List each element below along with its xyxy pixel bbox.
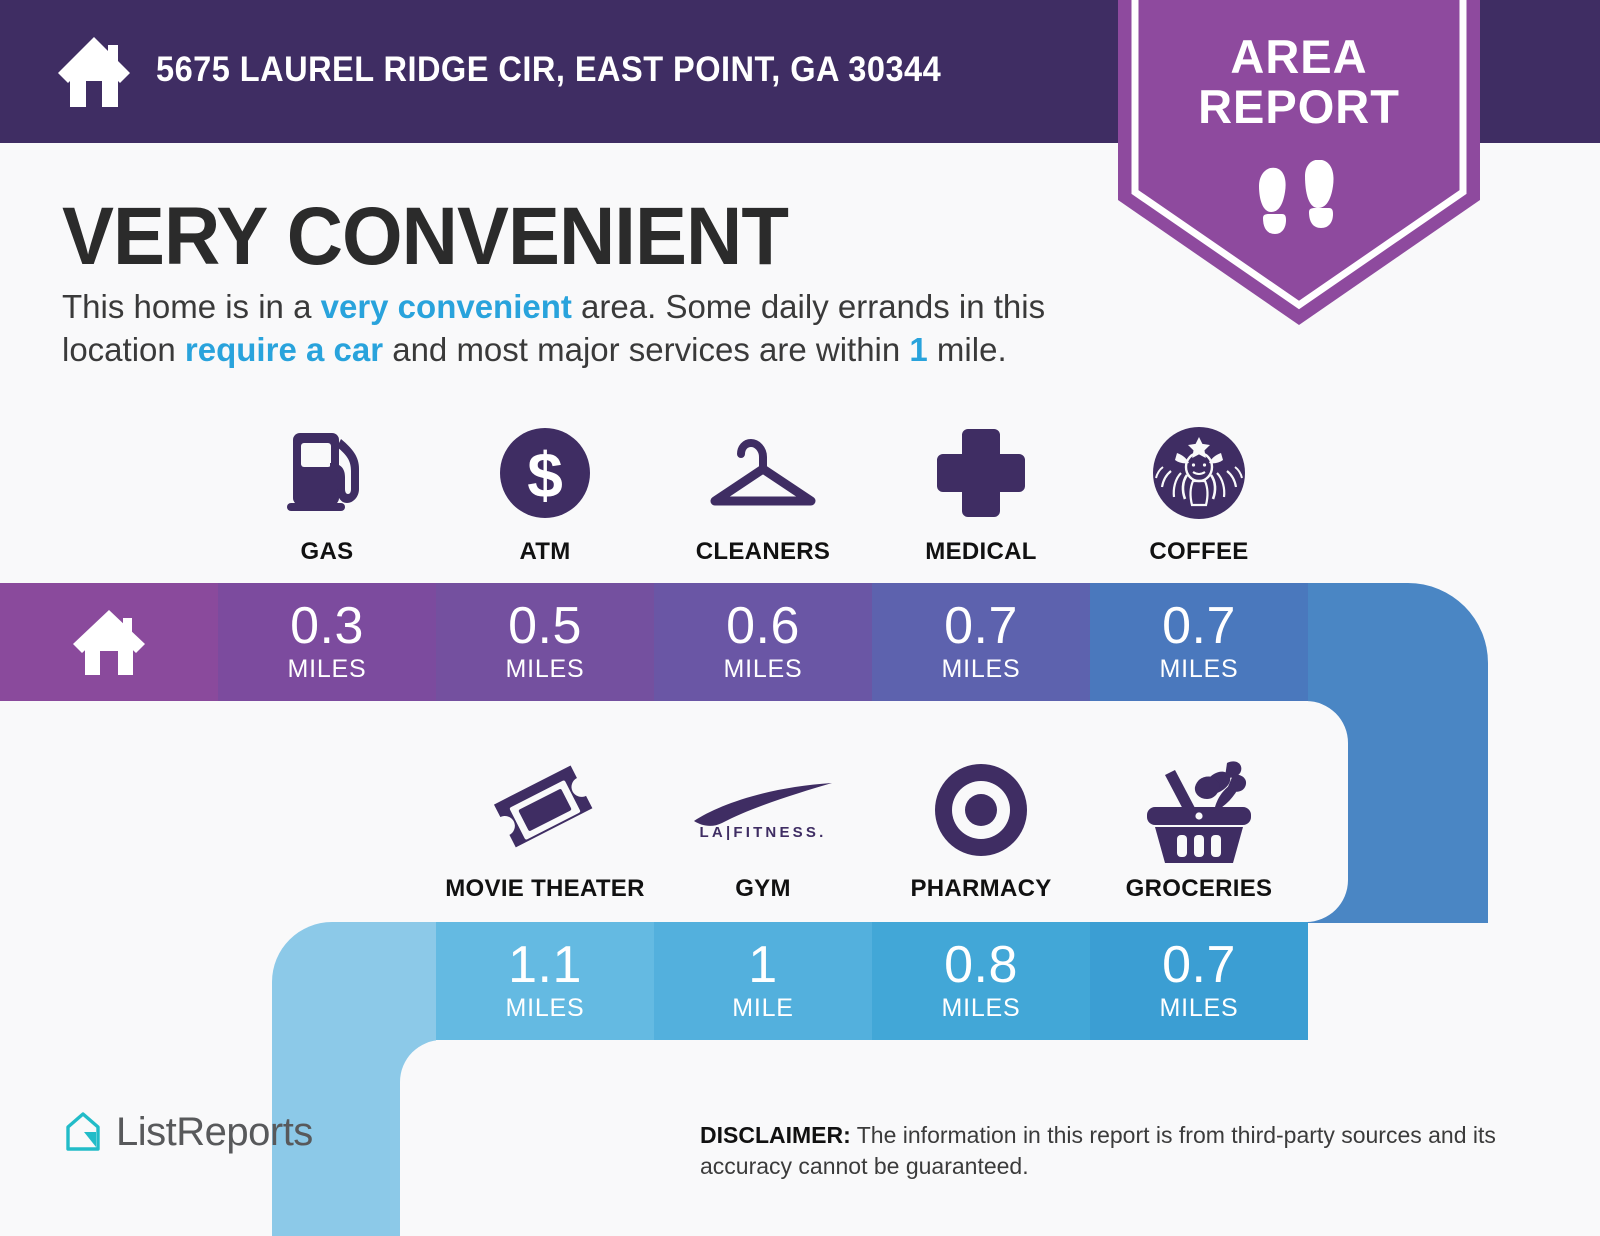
icon-column-groceries: GROCERIES (1090, 755, 1308, 903)
row2-cell-pharmacy: 0.8 MILES (872, 922, 1090, 1040)
icon-column-pharmacy: PHARMACY (872, 755, 1090, 903)
icon-label: GROCERIES (1126, 875, 1273, 903)
dollar-circle-icon: $ (497, 418, 593, 528)
distance-value: 0.8 (944, 939, 1018, 991)
sub-highlight-2: require a car (185, 331, 383, 368)
row1-cell-atm: 0.5 MILES (436, 583, 654, 701)
badge-title: AREA REPORT (1118, 32, 1480, 132)
distance-value: 0.7 (1162, 600, 1236, 652)
icon-column-gym: LA|FITNESS. GYM (654, 755, 872, 903)
summary-text: This home is in a very convenient area. … (62, 285, 1112, 371)
row1-cell-medical: 0.7 MILES (872, 583, 1090, 701)
svg-text:TM: TM (1233, 504, 1243, 511)
sub-suffix: mile. (928, 331, 1007, 368)
property-address: 5675 LAUREL RIDGE CIR, EAST POINT, GA 30… (156, 50, 941, 90)
icon-column-coffee: TM COFFEE (1090, 418, 1308, 566)
row1-cell-coffee: 0.7 MILES (1090, 583, 1308, 701)
area-report-badge: AREA REPORT (1118, 0, 1480, 325)
icon-label: GAS (301, 538, 354, 566)
row2-cell-groceries: 0.7 MILES (1090, 922, 1308, 1040)
badge-line-1: AREA (1230, 30, 1367, 83)
listreports-house-icon (62, 1111, 104, 1155)
movie-ticket-icon (490, 755, 600, 865)
distance-unit: MILES (287, 654, 366, 684)
distance-unit: MILES (941, 654, 1020, 684)
area-report-infographic: 5675 LAUREL RIDGE CIR, EAST POINT, GA 30… (0, 0, 1600, 1236)
medical-cross-icon (933, 418, 1029, 528)
la-fitness-icon: LA|FITNESS. (688, 755, 838, 865)
sub-highlight-3: 1 (909, 331, 927, 368)
icon-column-cleaners: CLEANERS (654, 418, 872, 566)
icon-column-movie-theater: MOVIE THEATER (436, 755, 654, 903)
gas-pump-icon (277, 418, 377, 528)
distance-unit: MILES (941, 993, 1020, 1023)
distance-value: 0.3 (290, 600, 364, 652)
home-icon (71, 607, 147, 677)
distance-value: 0.7 (1162, 939, 1236, 991)
row1-cell-cleaners: 0.6 MILES (654, 583, 872, 701)
icon-column-atm: $ ATM (436, 418, 654, 566)
row2-cell-gym: 1 MILE (654, 922, 872, 1040)
distance-value: 1.1 (508, 939, 582, 991)
icon-label: CLEANERS (696, 538, 830, 566)
home-icon (56, 33, 132, 109)
distance-unit: MILES (1159, 654, 1238, 684)
sub-mid-2: and most major services are within (383, 331, 909, 368)
disclaimer-label: DISCLAIMER: (700, 1122, 851, 1148)
icon-label: MEDICAL (925, 538, 1036, 566)
starbucks-icon: TM (1149, 418, 1249, 528)
icon-label: ATM (519, 538, 570, 566)
distance-value: 0.6 (726, 600, 800, 652)
distance-unit: MILE (732, 993, 794, 1023)
icon-label: COFFEE (1149, 538, 1248, 566)
row1-home-cell (0, 583, 218, 701)
badge-line-2: REPORT (1198, 80, 1400, 133)
sub-prefix: This home is in a (62, 288, 321, 325)
listreports-logo: ListReports (62, 1110, 313, 1155)
svg-text:LA|FITNESS.: LA|FITNESS. (700, 824, 827, 841)
distance-unit: MILES (1159, 993, 1238, 1023)
distance-value: 0.7 (944, 600, 1018, 652)
distance-unit: MILES (723, 654, 802, 684)
distance-unit: MILES (505, 993, 584, 1023)
target-bullseye-icon (931, 755, 1031, 865)
icon-label: MOVIE THEATER (445, 875, 644, 903)
hanger-icon (705, 418, 821, 528)
icon-column-medical: MEDICAL (872, 418, 1090, 566)
logo-text: ListReports (116, 1110, 313, 1155)
footprints-icon (1249, 160, 1349, 250)
row2-cell-movie-theater: 1.1 MILES (436, 922, 654, 1040)
disclaimer: DISCLAIMER: The information in this repo… (700, 1120, 1520, 1182)
distance-value: 0.5 (508, 600, 582, 652)
page-title: VERY CONVENIENT (62, 190, 788, 284)
distance-unit: MILES (505, 654, 584, 684)
row1-cell-gas: 0.3 MILES (218, 583, 436, 701)
icon-column-gas: GAS (218, 418, 436, 566)
sub-highlight-1: very convenient (321, 288, 572, 325)
distance-value: 1 (748, 939, 777, 991)
grocery-basket-icon (1141, 755, 1257, 865)
icon-label: PHARMACY (910, 875, 1051, 903)
icon-label: GYM (735, 875, 791, 903)
svg-text:$: $ (527, 439, 563, 511)
